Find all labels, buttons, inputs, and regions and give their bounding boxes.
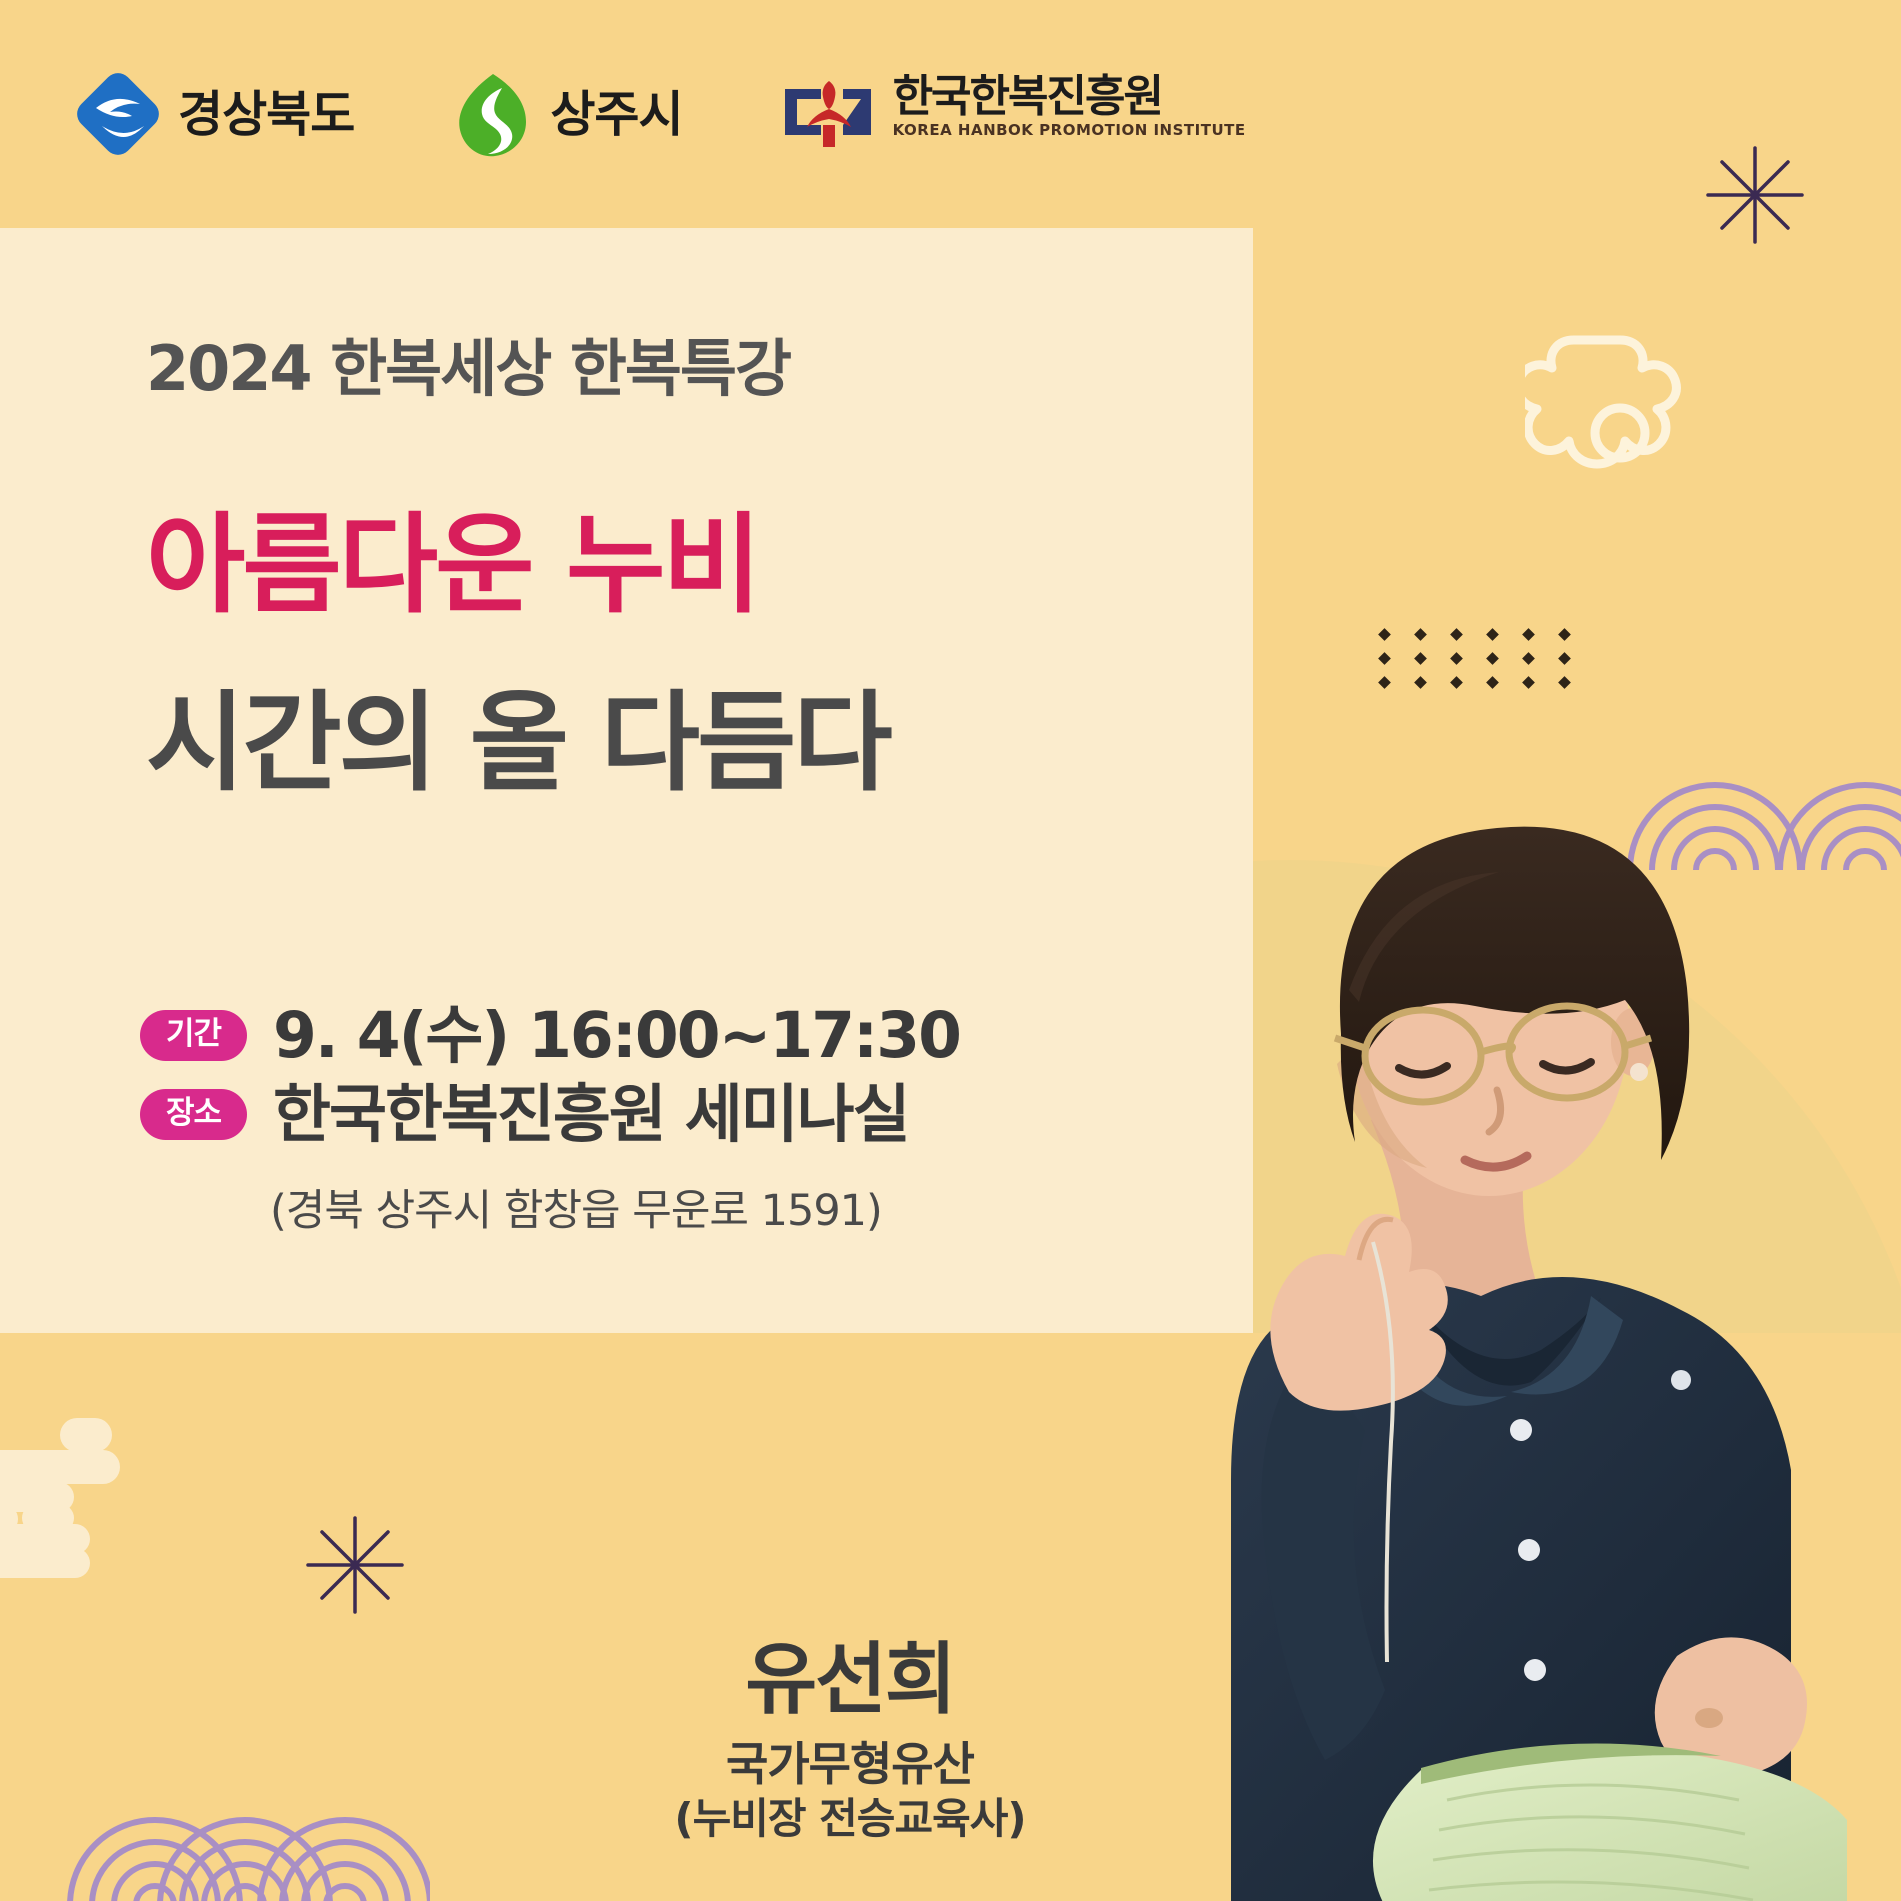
headline-primary: 아름다운 누비 (146, 512, 759, 620)
sponsor-logo-bar: 경상북도 상주시 한국한복진흥원 KOREA HANBOK PROMOTION … (0, 0, 1901, 228)
logo-sangju-si: 상주시 (450, 68, 682, 160)
presenter-title: 국가무형유산 (640, 1736, 1060, 1794)
logo-kh-text-block: 한국한복진흥원 KOREA HANBOK PROMOTION INSTITUTE (893, 75, 1246, 138)
schedule-value: 9. 4(수) 16:00~17:30 (273, 1004, 960, 1067)
badge-schedule: 기간 (140, 1010, 247, 1061)
dot-grid-icon (1370, 620, 1580, 700)
logo-label-kh-english: KOREA HANBOK PROMOTION INSTITUTE (893, 123, 1246, 138)
presenter-info: 유선희 국가무형유산 (누비장 전승교육사) (640, 1640, 1060, 1846)
hanbok-institute-emblem-icon (779, 75, 879, 153)
detail-row-venue: 장소 한국한복진흥원 세미나실 (140, 1083, 960, 1146)
presenter-subtitle: (누비장 전승교육사) (640, 1793, 1060, 1846)
detail-row-schedule: 기간 9. 4(수) 16:00~17:30 (140, 1004, 960, 1067)
event-details: 기간 9. 4(수) 16:00~17:30 장소 한국한복진흥원 세미나실 (140, 1004, 960, 1146)
concentric-arches-icon-bottom (50, 1735, 430, 1901)
venue-value: 한국한복진흥원 세미나실 (273, 1083, 909, 1146)
gyeongsangbuk-do-emblem-icon (72, 68, 164, 160)
sparkle-asterisk-icon-bottom (300, 1510, 410, 1620)
artisan-figure-illustration (1121, 790, 1901, 1901)
korean-cloud-icon (0, 1400, 260, 1620)
artisan-photograph (1121, 790, 1901, 1901)
logo-label-kh-korean: 한국한복진흥원 (893, 75, 1246, 119)
badge-venue: 장소 (140, 1089, 247, 1140)
logo-korea-hanbok-promotion-institute: 한국한복진흥원 KOREA HANBOK PROMOTION INSTITUTE (779, 75, 1246, 153)
sangju-si-emblem-icon (450, 68, 536, 160)
event-series-title: 2024 한복세상 한복특강 (146, 338, 790, 400)
presenter-name: 유선희 (640, 1640, 1060, 1722)
flower-outline-icon (1525, 320, 1715, 510)
logo-label-sangju-si: 상주시 (550, 90, 682, 139)
poster-canvas: 경상북도 상주시 한국한복진흥원 KOREA HANBOK PROMOTION … (0, 0, 1901, 1901)
venue-address: (경북 상주시 함창읍 무운로 1591) (270, 1190, 882, 1233)
logo-gyeongsangbuk-do: 경상북도 (72, 68, 354, 160)
headline-secondary: 시간의 올 다듬다 (146, 690, 890, 798)
logo-label-gyeongsangbuk-do: 경상북도 (178, 90, 354, 139)
